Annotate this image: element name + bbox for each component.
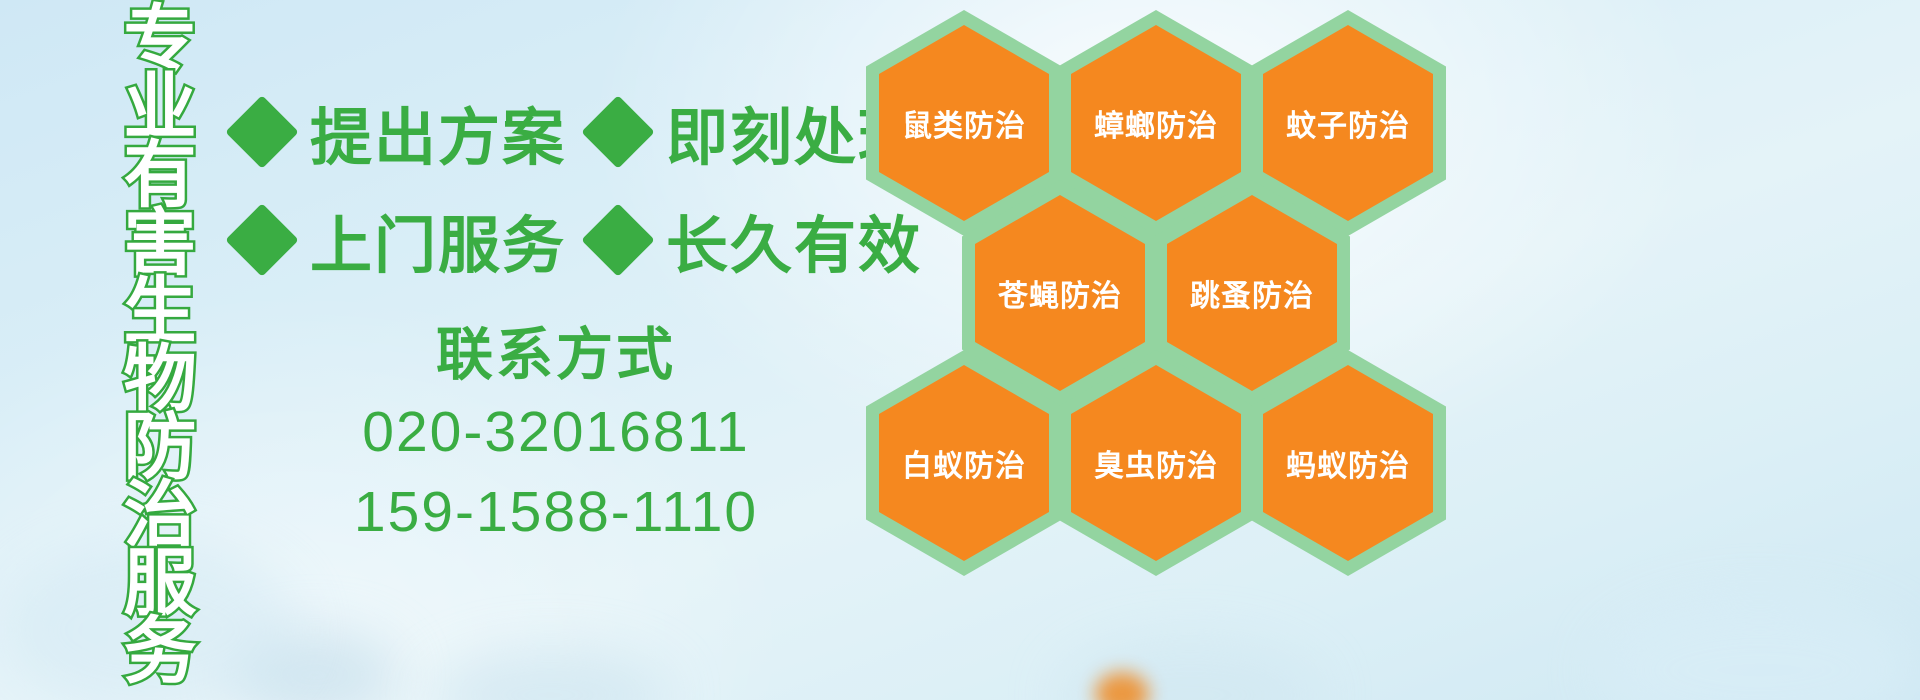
promo-banner: 专 业 有 害 生 物 防 治 服 务 提出方案 即刻处理 上门服务 xyxy=(0,0,1920,700)
hex-inner: 苍蝇防治 xyxy=(975,195,1145,391)
feature-row: 上门服务 长久有效 xyxy=(236,186,876,294)
service-label: 苍蝇防治 xyxy=(998,271,1122,315)
headline-char: 业 xyxy=(124,74,197,142)
phone-number-mobile[interactable]: 159-1588-1110 xyxy=(236,472,876,552)
hex-inner: 蟑螂防治 xyxy=(1071,25,1241,221)
service-label: 鼠类防治 xyxy=(902,101,1026,145)
service-label: 跳蚤防治 xyxy=(1190,271,1314,315)
service-label: 蟑螂防治 xyxy=(1094,101,1218,145)
headline-char: 有 xyxy=(124,142,197,210)
hex-inner: 鼠类防治 xyxy=(879,25,1049,221)
service-label: 蚊子防治 xyxy=(1286,101,1410,145)
feature-list: 提出方案 即刻处理 上门服务 长久有效 xyxy=(236,78,876,294)
hex-inner: 跳蚤防治 xyxy=(1167,195,1337,391)
hex-inner: 蚂蚁防治 xyxy=(1263,365,1433,561)
headline-char: 治 xyxy=(124,482,197,550)
bokeh-blob xyxy=(1600,600,1920,700)
service-hex-grid: 鼠类防治 蟑螂防治 蚊子防治 苍蝇防治 跳蚤防治 白蚁防治 xyxy=(862,2,1462,558)
bokeh-blob xyxy=(430,650,670,700)
diamond-bullet-icon xyxy=(581,95,655,169)
feature-label: 上门服务 xyxy=(310,195,566,285)
hex-inner: 蚊子防治 xyxy=(1263,25,1433,221)
service-label: 白蚁防治 xyxy=(902,441,1026,485)
contact-title: 联系方式 xyxy=(236,318,876,392)
feature-item: 提出方案 xyxy=(236,87,566,177)
headline-char: 防 xyxy=(124,414,197,482)
hex-inner: 白蚁防治 xyxy=(879,365,1049,561)
contact-block: 联系方式 020-32016811 159-1588-1110 xyxy=(236,318,876,552)
feature-item: 上门服务 xyxy=(236,195,566,285)
headline-char: 服 xyxy=(124,550,197,618)
feature-label: 提出方案 xyxy=(310,87,566,177)
vertical-headline: 专 业 有 害 生 物 防 治 服 务 xyxy=(108,6,212,696)
headline-char: 专 xyxy=(124,6,197,74)
service-label: 蚂蚁防治 xyxy=(1286,441,1410,485)
orange-bokeh-blob xyxy=(1095,672,1149,700)
diamond-bullet-icon xyxy=(225,203,299,277)
diamond-bullet-icon xyxy=(225,95,299,169)
service-label: 臭虫防治 xyxy=(1094,441,1218,485)
headline-char: 务 xyxy=(124,618,197,686)
bokeh-blob xyxy=(230,630,400,700)
hex-inner: 臭虫防治 xyxy=(1071,365,1241,561)
diamond-bullet-icon xyxy=(581,203,655,277)
headline-char: 物 xyxy=(124,346,197,414)
phone-number-landline[interactable]: 020-32016811 xyxy=(236,392,876,472)
feature-row: 提出方案 即刻处理 xyxy=(236,78,876,186)
headline-char: 害 xyxy=(124,210,197,278)
headline-char: 生 xyxy=(124,278,197,346)
